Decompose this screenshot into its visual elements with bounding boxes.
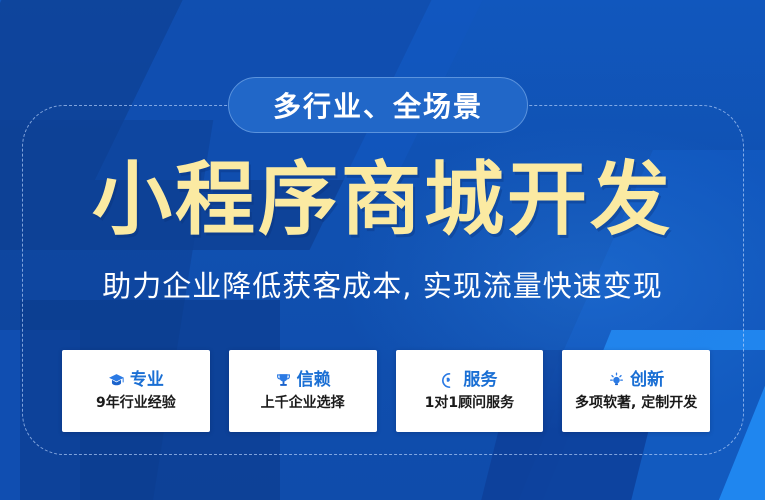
lightbulb-icon	[608, 372, 625, 389]
feature-card-trust[interactable]: 信赖 上千企业选择	[229, 350, 377, 432]
feature-card-subtitle: 1对1顾问服务	[425, 396, 514, 410]
feature-card-header: 创新	[608, 372, 664, 389]
feature-card-innovation[interactable]: 创新 多项软著, 定制开发	[562, 350, 710, 432]
category-badge: 多行业、全场景	[228, 77, 528, 133]
feature-card-header: 信赖	[275, 372, 331, 389]
feature-card-header: 专业	[108, 372, 164, 389]
feature-card-service[interactable]: 服务 1对1顾问服务	[396, 350, 544, 432]
headline-text: 小程序商城开发	[92, 160, 673, 240]
feature-card-professional[interactable]: 专业 9年行业经验	[62, 350, 210, 432]
feature-card-subtitle: 多项软著, 定制开发	[575, 396, 697, 410]
feature-card-list: 专业 9年行业经验 信赖 上千企业选择	[62, 350, 710, 432]
promo-banner: 多行业、全场景 小程序商城开发 助力企业降低获客成本, 实现流量快速变现 专业 …	[0, 0, 765, 500]
trophy-icon	[275, 372, 292, 389]
headline: 小程序商城开发	[0, 160, 765, 240]
subtitle: 助力企业降低获客成本, 实现流量快速变现	[0, 263, 765, 305]
feature-card-title: 创新	[630, 372, 664, 389]
category-badge-label: 多行业、全场景	[273, 85, 483, 125]
feature-card-subtitle: 9年行业经验	[96, 396, 176, 410]
feature-card-title: 服务	[463, 372, 497, 389]
feature-card-title: 专业	[130, 372, 164, 389]
feature-card-subtitle: 上千企业选择	[261, 396, 345, 410]
feature-card-header: 服务	[441, 372, 497, 389]
headset-ring-icon	[441, 372, 458, 389]
graduation-cap-icon	[108, 372, 125, 389]
feature-card-title: 信赖	[297, 372, 331, 389]
subtitle-text: 助力企业降低获客成本, 实现流量快速变现	[102, 263, 662, 305]
